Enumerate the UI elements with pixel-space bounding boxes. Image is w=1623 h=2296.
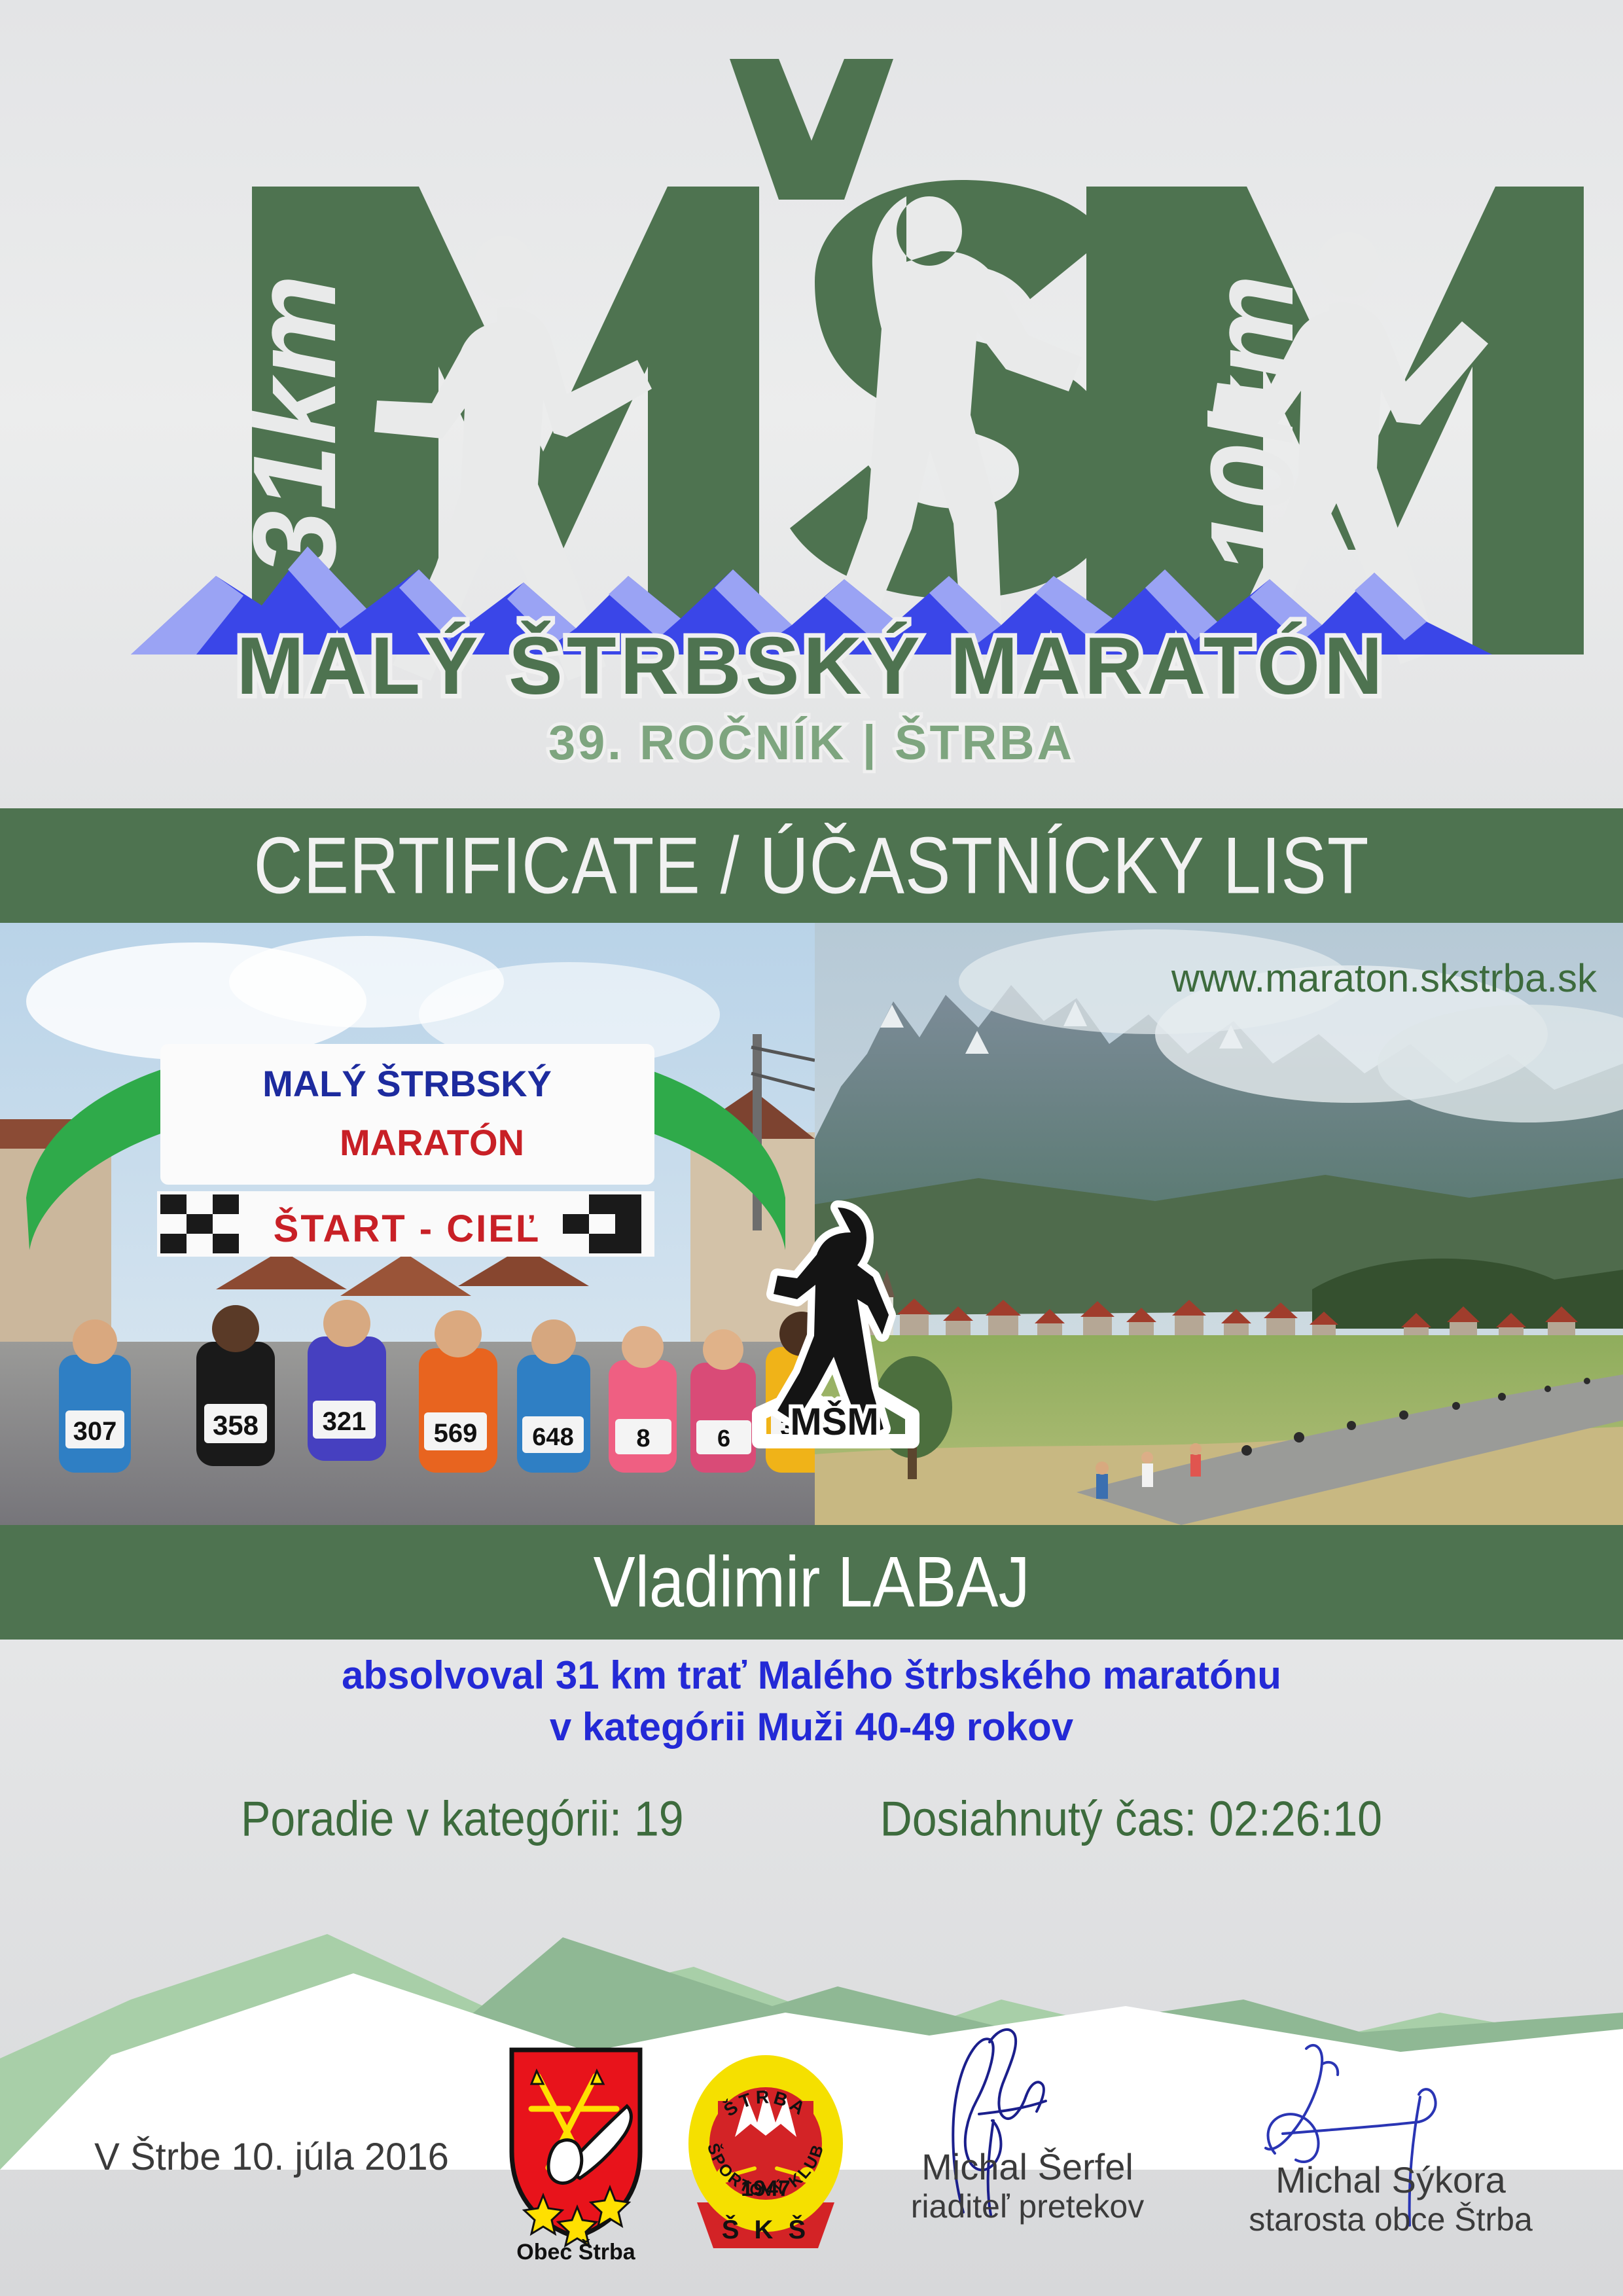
obec-strba-coat-of-arms: Obec Štrba: [497, 2043, 654, 2266]
bib-number: 358: [213, 1410, 259, 1441]
arch-line1: MALÝ ŠTRBSKÝ: [262, 1063, 552, 1104]
logo-title: MALÝ ŠTRBSKÝ MARATÓN: [236, 620, 1386, 711]
event-logo: 31km 10km: [0, 0, 1623, 808]
mayor-role: starosta obce Štrba: [1221, 2201, 1561, 2238]
director-role: riaditeľ pretekov: [857, 2188, 1198, 2225]
photo-race-start: MALÝ ŠTRBSKÝ MARATÓN ŠTART - CIEĽ: [0, 923, 815, 1525]
bib-number: 569: [434, 1419, 478, 1448]
bib-number: 321: [323, 1407, 366, 1436]
signature-director: Michal Šerfel riaditeľ pretekov: [857, 2147, 1198, 2225]
finish-time: Dosiahnutý čas: 02:26:10: [880, 1791, 1382, 1847]
category-rank: Poradie v kategórii: 19: [241, 1791, 684, 1847]
results-row: Poradie v kategórii: 19 Dosiahnutý čas: …: [0, 1793, 1623, 1844]
arch-start-finish: ŠTART - CIEĽ: [274, 1208, 541, 1250]
photo-landscape: www.maraton.skstrba.sk: [815, 923, 1623, 1525]
signature-mayor: Michal Sýkora starosta obce Štrba: [1221, 2160, 1561, 2238]
director-name: Michal Šerfel: [857, 2147, 1198, 2188]
website-url: www.maraton.skstrba.sk: [1171, 956, 1597, 1000]
participant-name-band: Vladimir LABAJ: [0, 1525, 1623, 1640]
logo-graphic: 31km 10km: [0, 0, 1623, 808]
msm-emblem-text: MŠM: [790, 1401, 878, 1443]
logo-subtitle: 39. ROČNÍK | ŠTRBA: [548, 715, 1075, 770]
bib-number: 6: [717, 1425, 730, 1452]
achievement-description: absolvoval 31 km trať Malého štrbského m…: [0, 1649, 1623, 1753]
mayor-name: Michal Sýkora: [1221, 2160, 1561, 2201]
participant-name: Vladimir LABAJ: [594, 1547, 1030, 1618]
logo-left-distance: 31km: [229, 275, 361, 576]
club-initials: Š K Š: [722, 2214, 810, 2244]
bib-number: 307: [73, 1417, 117, 1446]
race-start-image: MALÝ ŠTRBSKÝ MARATÓN ŠTART - CIEĽ: [0, 923, 815, 1525]
obec-strba-label: Obec Štrba: [516, 2239, 635, 2265]
landscape-image: www.maraton.skstrba.sk: [815, 923, 1623, 1525]
certificate-title: CERTIFICATE / ÚČASTNÍCKY LIST: [254, 825, 1370, 906]
bib-number: 648: [532, 1424, 573, 1451]
certificate-title-band: CERTIFICATE / ÚČASTNÍCKY LIST: [0, 808, 1623, 923]
arch-line2: MARATÓN: [340, 1122, 524, 1163]
msm-runner-emblem: MŠM: [740, 1185, 929, 1460]
sks-club-logo: 1947 ŠTRBA ŠPORTOVÝ KLUB Š K Š: [684, 2039, 847, 2255]
achievement-line-1: absolvoval 31 km trať Malého štrbského m…: [0, 1649, 1623, 1701]
achievement-line-2: v kategórii Muži 40-49 rokov: [0, 1701, 1623, 1753]
issue-date: V Štrbe 10. júla 2016: [62, 2135, 481, 2179]
bib-number: 8: [636, 1425, 650, 1452]
certificate-page: 31km 10km: [0, 0, 1623, 2296]
